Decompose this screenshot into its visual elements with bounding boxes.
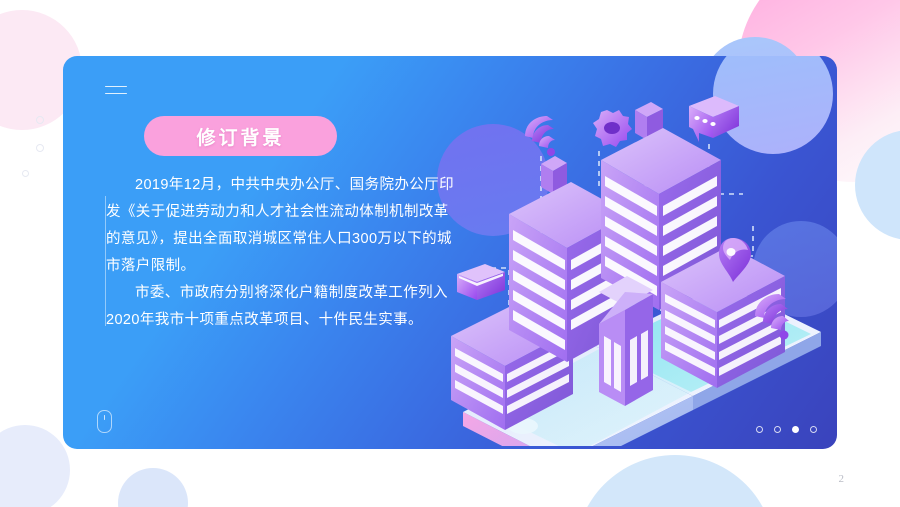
section-title-badge: 修订背景: [144, 116, 337, 156]
decorative-ring-1: [36, 116, 44, 124]
building-center-spire: [599, 276, 653, 406]
decorative-circle-blue-bottom: [575, 455, 775, 507]
body-text-block: 2019年12月，中共中央办公厅、国务院办公厅印发《关于促进劳动力和人才社会性流…: [105, 172, 454, 334]
isometric-smart-city-illustration: [423, 96, 823, 446]
gear-settings-icon: [593, 110, 632, 147]
page-number: 2: [839, 473, 845, 485]
mail-envelope-icon: [457, 264, 505, 300]
content-card: 修订背景 2019年12月，中共中央办公厅、国务院办公厅印发《关于促进劳动力和人…: [63, 56, 837, 449]
body-paragraph-1: 2019年12月，中共中央办公厅、国务院办公厅印发《关于促进劳动力和人才社会性流…: [106, 172, 454, 280]
body-paragraph-2: 市委、市政府分别将深化户籍制度改革工作列入2020年我市十项重点改革项目、十件民…: [106, 280, 454, 334]
pagination-dot-1[interactable]: [756, 426, 763, 433]
slide-canvas: 修订背景 2019年12月，中共中央办公厅、国务院办公厅印发《关于促进劳动力和人…: [0, 0, 900, 507]
chat-bubble-icon: [689, 96, 739, 142]
mouse-scroll-icon: [97, 410, 112, 433]
hamburger-line-2: [105, 93, 127, 94]
pagination-dot-3[interactable]: [792, 426, 799, 433]
pagination-dot-4[interactable]: [810, 426, 817, 433]
pagination-dots: [756, 426, 817, 433]
decorative-circle-lavender-left: [0, 425, 70, 507]
decorative-ring-3: [22, 170, 29, 177]
section-title-text: 修订背景: [196, 123, 284, 150]
decorative-circle-lavender-bottom: [118, 468, 188, 507]
decorative-ring-2: [36, 144, 44, 152]
wifi-signal-icon: [525, 116, 555, 156]
hamburger-line-1: [105, 86, 127, 87]
pagination-dot-2[interactable]: [774, 426, 781, 433]
hamburger-menu-icon[interactable]: [105, 86, 127, 94]
